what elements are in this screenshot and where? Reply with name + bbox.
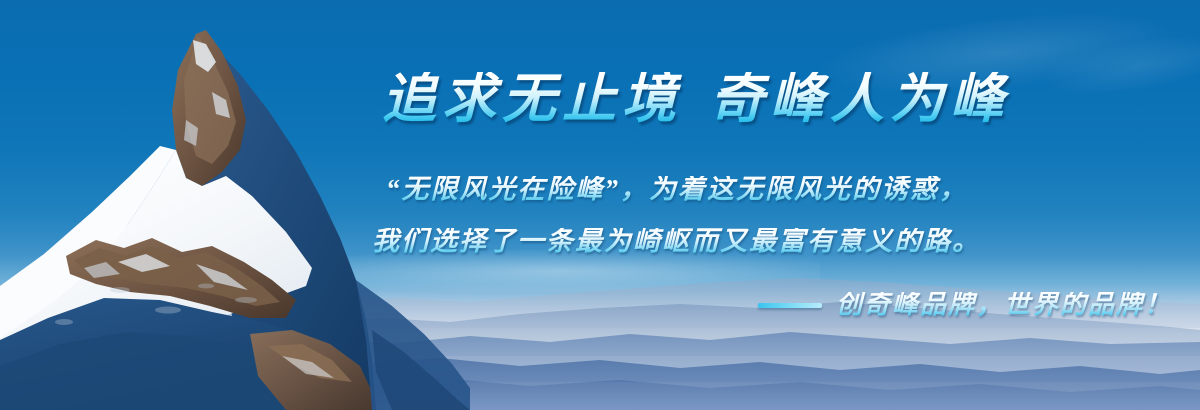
hero-banner: 追求无止境奇峰人为峰 “无限风光在险峰”，为着这无限风光的诱惑， 我们选择了一条… bbox=[0, 0, 1200, 410]
cloud-wisp-icon bbox=[300, 250, 820, 292]
